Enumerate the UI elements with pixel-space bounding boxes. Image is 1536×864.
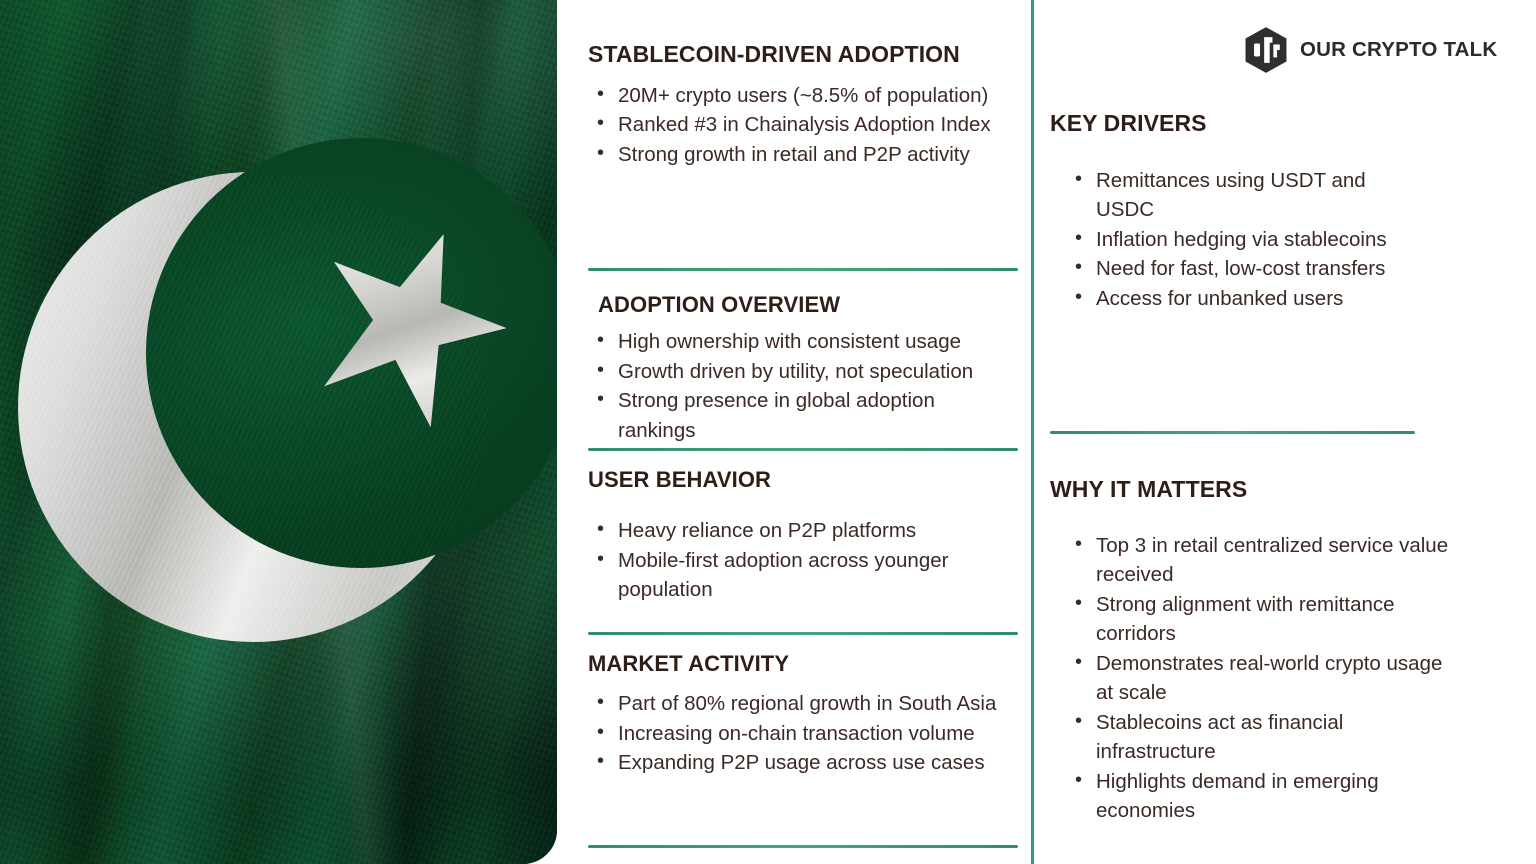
section-heading: WHY IT MATTERS: [1050, 476, 1450, 504]
crescent-moon-icon: [18, 172, 488, 642]
divider-after-stablecoin: [588, 268, 1018, 271]
list-item: Strong alignment with remittance corrido…: [1050, 590, 1450, 649]
section-bullet-list: Remittances using USDT and USDC Inflatio…: [1050, 166, 1415, 314]
section-bullet-list: Top 3 in retail centralized service valu…: [1050, 531, 1450, 826]
list-item: Inflation hedging via stablecoins: [1050, 225, 1415, 255]
divider-bottom-middle: [588, 845, 1018, 848]
list-item: Strong presence in global adoption ranki…: [588, 386, 1018, 445]
section-user-behavior: USER BEHAVIOR Heavy reliance on P2P plat…: [588, 467, 1018, 605]
section-heading: MARKET ACTIVITY: [588, 651, 1018, 677]
list-item: Access for unbanked users: [1050, 284, 1415, 314]
list-item: Remittances using USDT and USDC: [1050, 166, 1415, 225]
list-item: Part of 80% regional growth in South Asi…: [588, 689, 1018, 719]
section-key-drivers: KEY DRIVERS Remittances using USDT and U…: [1050, 110, 1415, 313]
infographic-page: OUR CRYPTO TALK STABLECOIN-DRIVEN ADOPTI…: [0, 0, 1536, 864]
list-item: Demonstrates real-world crypto usage at …: [1050, 649, 1450, 708]
list-item: Mobile-first adoption across younger pop…: [588, 546, 1018, 605]
column-divider: [1031, 0, 1034, 864]
section-adoption-overview: ADOPTION OVERVIEW High ownership with co…: [588, 292, 1018, 445]
list-item: Increasing on-chain transaction volume: [588, 719, 1018, 749]
list-item: Highlights demand in emerging economies: [1050, 767, 1450, 826]
section-heading: KEY DRIVERS: [1050, 110, 1415, 138]
list-item: High ownership with consistent usage: [588, 327, 1018, 357]
list-item: Strong growth in retail and P2P activity: [588, 140, 1018, 170]
list-item: Expanding P2P usage across use cases: [588, 748, 1018, 778]
divider-after-adoption-overview: [588, 448, 1018, 451]
list-item: Stablecoins act as financial infrastruct…: [1050, 708, 1450, 767]
section-heading: ADOPTION OVERVIEW: [588, 292, 1018, 318]
right-column: KEY DRIVERS Remittances using USDT and U…: [1050, 0, 1502, 864]
list-item: Need for fast, low-cost transfers: [1050, 254, 1415, 284]
section-bullet-list: 20M+ crypto users (~8.5% of population) …: [588, 81, 1018, 170]
list-item: Top 3 in retail centralized service valu…: [1050, 531, 1450, 590]
section-heading: STABLECOIN-DRIVEN ADOPTION: [588, 41, 1018, 69]
section-stablecoin-driven-adoption: STABLECOIN-DRIVEN ADOPTION 20M+ crypto u…: [588, 41, 1018, 169]
section-market-activity: MARKET ACTIVITY Part of 80% regional gro…: [588, 651, 1018, 778]
list-item: Growth driven by utility, not speculatio…: [588, 357, 1018, 387]
list-item: Ranked #3 in Chainalysis Adoption Index: [588, 110, 1018, 140]
section-bullet-list: Heavy reliance on P2P platforms Mobile-f…: [588, 516, 1018, 605]
section-why-it-matters: WHY IT MATTERS Top 3 in retail centraliz…: [1050, 476, 1450, 826]
section-bullet-list: High ownership with consistent usage Gro…: [588, 327, 1018, 445]
section-heading: USER BEHAVIOR: [588, 467, 1018, 493]
list-item: Heavy reliance on P2P platforms: [588, 516, 1018, 546]
pakistan-flag-image: [0, 0, 557, 864]
section-bullet-list: Part of 80% regional growth in South Asi…: [588, 689, 1018, 778]
middle-column: STABLECOIN-DRIVEN ADOPTION 20M+ crypto u…: [588, 0, 1018, 864]
divider-between-right-sections: [1050, 431, 1415, 434]
divider-after-user-behavior: [588, 632, 1018, 635]
list-item: 20M+ crypto users (~8.5% of population): [588, 81, 1018, 111]
